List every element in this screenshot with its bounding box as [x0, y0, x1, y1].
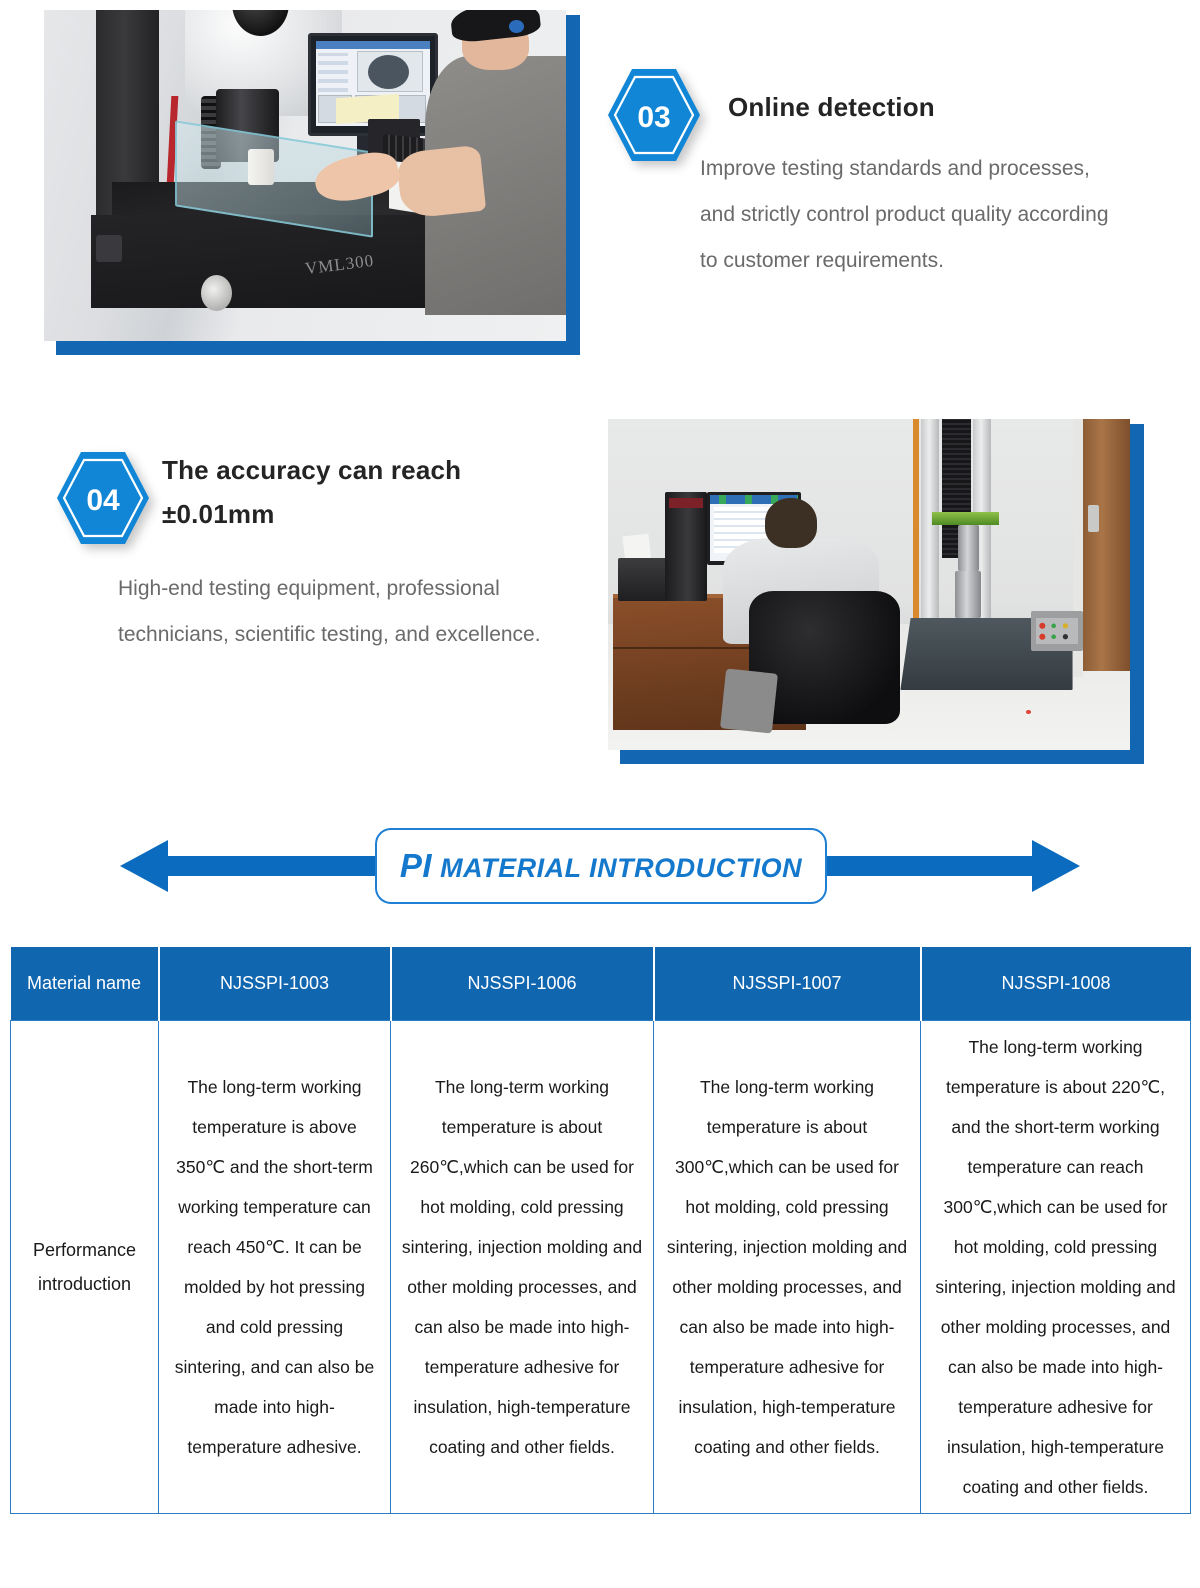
tensile-testing-machine-photo [608, 419, 1130, 750]
section-title-pill: PI MATERIAL INTRODUCTION [375, 828, 827, 904]
section-title-text: PI MATERIAL INTRODUCTION [400, 847, 802, 885]
frame-accent-right [566, 15, 580, 355]
table-header-row: Material name NJSSPI-1003 NJSSPI-1006 NJ… [11, 947, 1191, 1020]
pi-material-table: Material name NJSSPI-1003 NJSSPI-1006 NJ… [10, 947, 1190, 1514]
feature-04-photo-frame [608, 419, 1144, 764]
row-label-performance-introduction: Performance introduction [11, 1020, 159, 1513]
feature-03-title: Online detection [728, 85, 1148, 129]
cell-njsspi-1006-performance: The long-term working temperature is abo… [391, 1020, 654, 1513]
product-feature-page: VML300 03 Online detection Improve testi… [0, 0, 1200, 1588]
table-header-cell-njsspi-1003: NJSSPI-1003 [159, 947, 391, 1020]
frame-accent-right [1130, 424, 1144, 764]
badge-number-03: 03 [637, 101, 670, 134]
frame-accent-bottom [56, 341, 580, 355]
table-header-cell-njsspi-1008: NJSSPI-1008 [921, 947, 1191, 1020]
feature-03-photo-frame: VML300 [44, 10, 580, 355]
optical-measuring-machine-photo: VML300 [44, 10, 566, 341]
frame-accent-bottom [620, 750, 1144, 764]
cell-njsspi-1003-performance: The long-term working temperature is abo… [159, 1020, 391, 1513]
section-title-lead: PI [400, 847, 432, 884]
feature-04-number-badge: 04 [53, 448, 153, 548]
feature-03-number-badge: 03 [604, 65, 704, 165]
cell-njsspi-1007-performance: The long-term working temperature is abo… [654, 1020, 921, 1513]
feature-04-title: The accuracy can reach ±0.01mm [162, 448, 562, 536]
table-row: Performance introduction The long-term w… [11, 1020, 1191, 1513]
feature-04-body: High-end testing equipment, professional… [118, 566, 588, 658]
table-header-cell-njsspi-1006: NJSSPI-1006 [391, 947, 654, 1020]
table-header-cell-material-name: Material name [11, 947, 159, 1020]
section-title-rest: MATERIAL INTRODUCTION [432, 853, 802, 883]
feature-03-body: Improve testing standards and processes,… [700, 146, 1118, 284]
cell-njsspi-1008-performance: The long-term working temperature is abo… [921, 1020, 1191, 1513]
badge-number-04: 04 [86, 484, 120, 517]
table-header-cell-njsspi-1007: NJSSPI-1007 [654, 947, 921, 1020]
